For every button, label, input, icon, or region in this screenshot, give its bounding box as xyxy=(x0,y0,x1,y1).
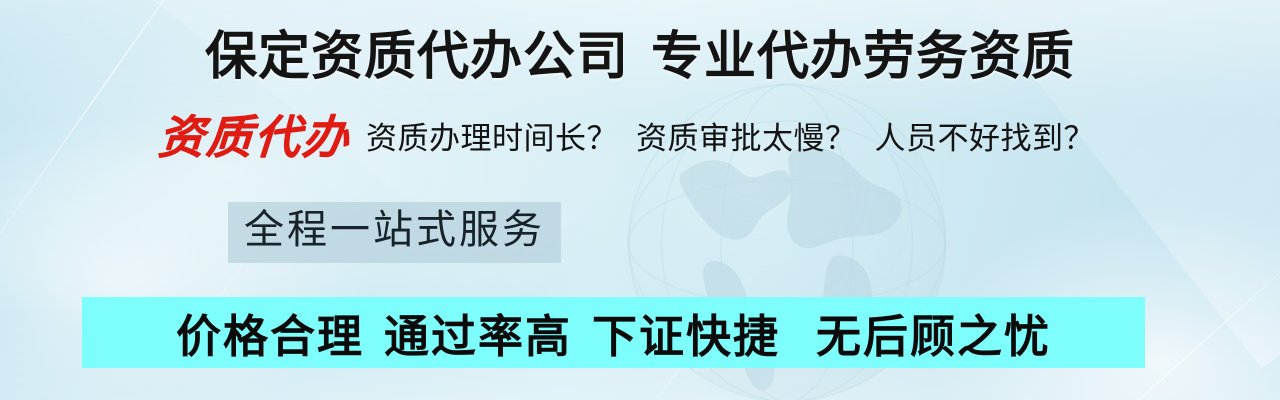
question-3: 人员不好找到？ xyxy=(875,121,1096,156)
benefit-2: 通过率高 xyxy=(384,300,572,365)
benefits-band: 价格合理通过率高下证快捷无后顾之忧 xyxy=(82,297,1145,368)
subheadline-row: 资质代办 资质办理时间长？资质审批太慢？人员不好找到？ xyxy=(158,115,1095,161)
headline-part-1: 保定资质代办公司 xyxy=(205,28,629,86)
promo-banner: 保定资质代办公司专业代办劳务资质 资质代办 资质办理时间长？资质审批太慢？人员不… xyxy=(0,0,1280,400)
benefit-1: 价格合理 xyxy=(176,300,364,365)
headline: 保定资质代办公司专业代办劳务资质 xyxy=(0,14,1280,89)
service-highlight-box: 全程一站式服务 xyxy=(228,202,561,263)
question-1: 资质办理时间长？ xyxy=(366,121,618,156)
benefit-3: 下证快捷 xyxy=(592,300,780,365)
question-2: 资质审批太慢？ xyxy=(636,121,857,156)
questions-line: 资质办理时间长？资质审批太慢？人员不好找到？ xyxy=(366,123,1095,154)
headline-part-2: 专业代办劳务资质 xyxy=(651,28,1075,86)
benefit-4: 无后顾之忧 xyxy=(816,300,1051,365)
brush-mark-text: 资质代办 xyxy=(156,115,351,161)
service-box-text: 全程一站式服务 xyxy=(244,207,545,252)
content-layer: 保定资质代办公司专业代办劳务资质 资质代办 资质办理时间长？资质审批太慢？人员不… xyxy=(0,0,1280,400)
